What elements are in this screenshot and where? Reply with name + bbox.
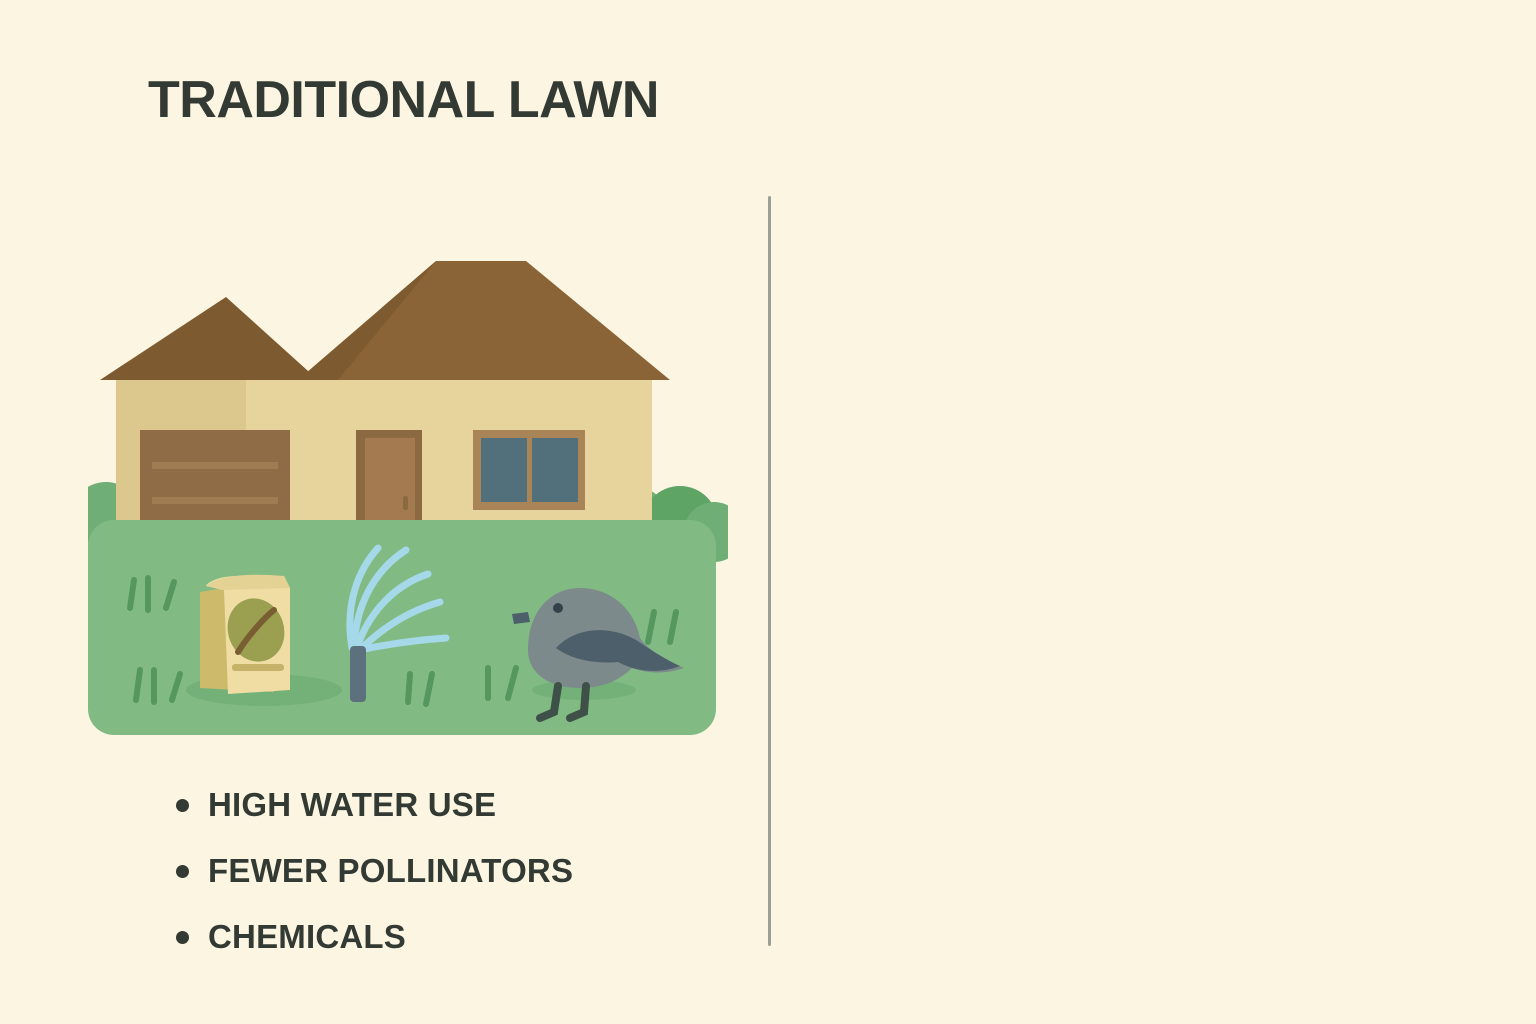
benefits-list-left: HIGH WATER USE FEWER POLLINATORS CHEMICA… (176, 772, 573, 970)
panel-traditional-lawn: TRADITIONAL LAWN (0, 0, 769, 1024)
door-handle-icon (403, 496, 408, 510)
infographic-root: TRADITIONAL LAWN (0, 0, 1536, 1024)
garage-door-line (152, 497, 278, 504)
bullet-dot-icon (176, 865, 189, 878)
house-roof (298, 261, 670, 380)
list-item: CHEMICALS (176, 904, 573, 970)
window-pane (481, 438, 527, 502)
list-item-label: FEWER POLLINATORS (208, 852, 573, 890)
bird-beak (512, 612, 530, 624)
list-item: HIGH WATER USE (176, 772, 573, 838)
traditional-lawn-illustration (88, 250, 728, 750)
garage-door-line (152, 462, 278, 469)
list-item-label: HIGH WATER USE (208, 786, 496, 824)
sprinkler-head (350, 646, 366, 702)
bullet-dot-icon (176, 799, 189, 812)
panel-native-plant-landscaping: NATIVE PLANT LANDSCAPING (769, 0, 1536, 1024)
bird-eye (553, 603, 563, 613)
page-title-left: TRADITIONAL LAWN (148, 72, 748, 128)
bullet-dot-icon (176, 931, 189, 944)
house-roof-left (100, 297, 318, 380)
window-pane (532, 438, 578, 502)
list-item-label: CHEMICALS (208, 918, 406, 956)
house-group (100, 261, 670, 562)
list-item: FEWER POLLINATORS (176, 838, 573, 904)
lawn-scene-svg (88, 250, 728, 750)
